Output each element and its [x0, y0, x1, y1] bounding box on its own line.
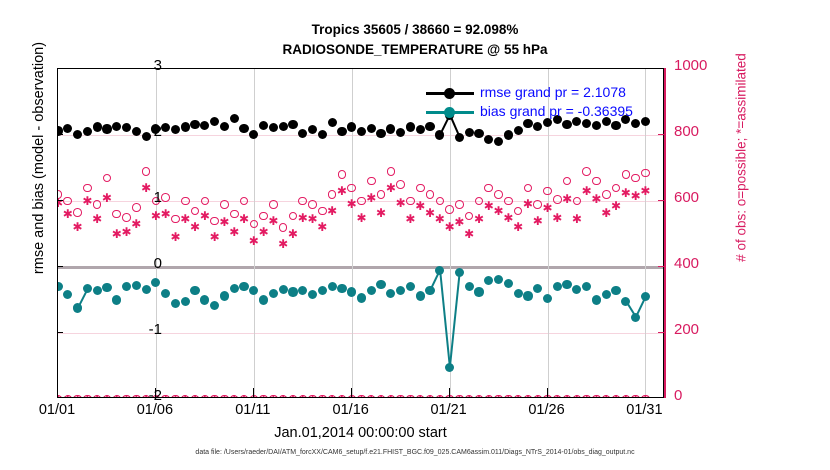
y-tick-label-right: 400	[674, 255, 734, 272]
bias-point	[611, 286, 620, 295]
rmse-point	[73, 130, 82, 139]
bias-point	[171, 299, 180, 308]
y-tick-label-right: 1000	[674, 57, 734, 74]
right-axis-spine	[664, 68, 666, 398]
rmse-point	[592, 121, 601, 130]
y-tick-label-left: -1	[116, 321, 162, 338]
obs-possible-marker	[367, 177, 376, 186]
x-tick-label: 01/11	[213, 402, 293, 418]
bias-point	[602, 290, 611, 299]
obs-assimilated-marker: ✱	[551, 212, 563, 224]
rmse-point	[367, 124, 376, 133]
rmse-point	[181, 122, 190, 131]
bias-point	[494, 275, 503, 284]
obs-assimilated-marker: ✱	[512, 221, 524, 233]
rmse-point	[269, 123, 278, 132]
y-tick-mark-right	[658, 266, 664, 267]
y-tick-mark-left	[57, 134, 63, 135]
bias-point	[357, 293, 366, 302]
obs-assimilated-marker: ✱	[62, 208, 74, 220]
legend-label: bias grand pr = -0.36395	[480, 102, 633, 121]
obs-possible-marker	[269, 200, 278, 209]
obs-possible-marker	[201, 197, 210, 206]
obs-assimilated-marker: ✱	[336, 185, 348, 197]
obs-possible-marker	[592, 177, 601, 186]
x-tick-mark	[547, 388, 548, 398]
bias-point	[406, 282, 415, 291]
bias-point	[279, 285, 288, 294]
legend: rmse grand pr = 2.1078bias grand pr = -0…	[418, 83, 658, 121]
bias-point	[504, 279, 513, 288]
x-axis-label: Jan.01,2014 00:00:00 start	[57, 425, 664, 441]
obs-assimilated-marker: ✱	[473, 213, 485, 225]
obs-possible-marker	[308, 200, 317, 209]
bias-point	[523, 291, 532, 300]
obs-assimilated-marker: ✱	[91, 213, 103, 225]
x-tick-mark	[253, 388, 254, 398]
obs-assimilated-marker: ✱	[365, 192, 377, 204]
obs-possible-marker	[563, 177, 572, 186]
obs-possible-marker	[641, 169, 650, 178]
rmse-point	[465, 128, 474, 137]
obs-assimilated-marker: ✱	[404, 213, 416, 225]
obs-assimilated-marker: ✱	[258, 226, 270, 238]
obs-assimilated-marker: ✱	[81, 195, 93, 207]
obs-assimilated-marker: ✱	[130, 218, 142, 230]
y-tick-mark-left	[57, 332, 63, 333]
rmse-point	[504, 130, 513, 139]
rmse-point	[611, 121, 620, 130]
vertical-gridline	[254, 69, 255, 397]
rmse-point	[562, 120, 571, 129]
bias-point	[367, 286, 376, 295]
obs-possible-marker	[494, 190, 503, 199]
bias-point	[416, 291, 425, 300]
obs-assimilated-marker: ✱	[72, 221, 84, 233]
obs-assimilated-marker: ✱	[326, 205, 338, 217]
bias-point	[474, 287, 483, 296]
rmse-point	[337, 127, 346, 136]
obs-assimilated-marker: ✱	[316, 221, 328, 233]
rmse-point	[249, 130, 258, 139]
obs-baseline-asterisk: ✱	[640, 394, 651, 398]
rmse-point	[406, 122, 415, 131]
rmse-point	[347, 122, 356, 131]
y-tick-mark-left	[57, 200, 63, 201]
obs-assimilated-marker: ✱	[209, 231, 221, 243]
rmse-point	[308, 125, 317, 134]
bias-point	[386, 289, 395, 298]
obs-possible-marker	[63, 197, 72, 206]
rmse-point	[514, 126, 523, 135]
rmse-point	[425, 122, 434, 131]
rmse-point	[102, 124, 111, 133]
obs-possible-marker	[387, 167, 396, 176]
bias-point	[337, 284, 346, 293]
bias-point	[230, 284, 239, 293]
y-tick-label-left: 0	[116, 255, 162, 272]
y-tick-label-right: 200	[674, 321, 734, 338]
rmse-point	[484, 135, 493, 144]
vertical-gridline	[156, 69, 157, 397]
obs-possible-marker	[426, 190, 435, 199]
obs-possible-marker	[73, 208, 82, 217]
rmse-point	[239, 124, 248, 133]
bias-point	[122, 282, 131, 291]
rmse-point	[494, 137, 503, 146]
obs-assimilated-marker: ✱	[532, 215, 544, 227]
bias-point	[220, 291, 229, 300]
obs-possible-marker	[298, 197, 307, 206]
obs-assimilated-marker: ✱	[395, 197, 407, 209]
rmse-point	[533, 122, 542, 131]
rmse-point	[93, 122, 102, 131]
obs-possible-marker	[543, 187, 552, 196]
bias-point	[562, 280, 571, 289]
bias-point	[435, 266, 444, 275]
rmse-point	[279, 122, 288, 131]
obs-assimilated-marker: ✱	[169, 231, 181, 243]
bias-point	[328, 282, 337, 291]
obs-assimilated-marker: ✱	[463, 228, 475, 240]
obs-assimilated-marker: ✱	[590, 193, 602, 205]
rmse-point	[210, 117, 219, 126]
obs-possible-marker	[622, 170, 631, 179]
obs-assimilated-marker: ✱	[101, 192, 113, 204]
y-axis-label-right: # of obs: o=possible; *=assimilated	[734, 0, 749, 323]
bias-point	[249, 286, 258, 295]
bias-point	[631, 313, 640, 322]
rmse-point	[161, 123, 170, 132]
bias-point	[641, 292, 650, 301]
rmse-point	[474, 129, 483, 138]
bias-point	[142, 285, 151, 294]
y-tick-mark-right	[658, 332, 664, 333]
bias-point	[102, 283, 111, 292]
bias-point	[308, 290, 317, 299]
obs-assimilated-marker: ✱	[385, 182, 397, 194]
x-tick-mark	[351, 388, 352, 398]
obs-assimilated-marker: ✱	[610, 200, 622, 212]
obs-assimilated-marker: ✱	[238, 213, 250, 225]
obs-assimilated-marker: ✱	[189, 221, 201, 233]
rmse-point	[328, 118, 337, 127]
rmse-point	[190, 120, 199, 129]
obs-possible-marker	[445, 205, 454, 214]
bias-point	[190, 286, 199, 295]
obs-assimilated-marker: ✱	[346, 198, 358, 210]
y-tick-label-left: 1	[116, 189, 162, 206]
obs-possible-marker	[161, 193, 170, 202]
bias-point	[376, 280, 385, 289]
obs-assimilated-marker: ✱	[571, 213, 583, 225]
y-tick-label-right: 800	[674, 123, 734, 140]
obs-possible-marker	[436, 197, 445, 206]
obs-possible-marker	[142, 167, 151, 176]
x-tick-label: 01/16	[311, 402, 391, 418]
vertical-gridline	[352, 69, 353, 397]
x-tick-label: 01/21	[409, 402, 489, 418]
obs-assimilated-marker: ✱	[561, 193, 573, 205]
bias-point	[269, 289, 278, 298]
x-tick-label: 01/06	[115, 402, 195, 418]
x-tick-mark	[449, 388, 450, 398]
obs-possible-marker	[181, 197, 190, 206]
obs-possible-marker	[220, 200, 229, 209]
x-tick-label: 01/01	[17, 402, 97, 418]
x-tick-label: 01/31	[604, 402, 684, 418]
bias-point	[543, 294, 552, 303]
bias-point	[181, 297, 190, 306]
obs-assimilated-marker: ✱	[639, 185, 651, 197]
obs-possible-marker	[484, 184, 493, 193]
rmse-point	[376, 129, 385, 138]
rmse-point	[230, 114, 239, 123]
obs-possible-marker	[631, 174, 640, 183]
data-file-footer: data file: /Users/raeder/DAI/ATM_forcXX/…	[0, 449, 830, 456]
obs-possible-marker	[240, 197, 249, 206]
obs-possible-marker	[416, 184, 425, 193]
y-tick-label-right: 600	[674, 189, 734, 206]
bias-point	[514, 289, 523, 298]
bias-point	[58, 282, 63, 291]
legend-marker-icon	[444, 107, 455, 118]
y-tick-label-left: 2	[116, 123, 162, 140]
bias-point	[572, 285, 581, 294]
obs-possible-marker	[103, 174, 112, 183]
bias-point	[465, 282, 474, 291]
legend-item[interactable]: rmse grand pr = 2.1078	[418, 83, 658, 102]
bias-point	[239, 282, 248, 291]
bias-point	[582, 282, 591, 291]
obs-assimilated-marker: ✱	[199, 210, 211, 222]
rmse-point	[298, 129, 307, 138]
obs-possible-marker	[524, 184, 533, 193]
obs-assimilated-marker: ✱	[522, 198, 534, 210]
obs-assimilated-marker: ✱	[267, 215, 279, 227]
obs-possible-marker	[582, 167, 591, 176]
obs-possible-marker	[573, 197, 582, 206]
bias-point	[318, 286, 327, 295]
bias-point	[210, 301, 219, 310]
bias-point	[347, 287, 356, 296]
obs-possible-marker	[83, 184, 92, 193]
y-tick-mark-right	[658, 200, 664, 201]
x-tick-label: 01/26	[507, 402, 587, 418]
obs-possible-marker	[602, 190, 611, 199]
bias-point	[83, 284, 92, 293]
rmse-point	[288, 120, 297, 129]
bias-point	[455, 268, 464, 277]
bias-point	[425, 286, 434, 295]
obs-assimilated-marker: ✱	[228, 226, 240, 238]
plot-title-line1: Tropics 35605 / 38660 = 92.098%	[0, 22, 830, 37]
bias-point	[298, 286, 307, 295]
bias-point	[200, 295, 209, 304]
plot-canvas: Tropics 35605 / 38660 = 92.098% RADIOSON…	[0, 0, 830, 470]
bias-point	[288, 287, 297, 296]
obs-assimilated-marker: ✱	[160, 208, 172, 220]
rmse-point	[259, 121, 268, 130]
bias-point	[132, 281, 141, 290]
obs-assimilated-marker: ✱	[287, 228, 299, 240]
rmse-point	[455, 133, 464, 142]
y-tick-label-left: 3	[116, 57, 162, 74]
bias-point	[73, 303, 82, 312]
obs-possible-marker	[347, 184, 356, 193]
bias-point	[151, 278, 160, 287]
y-tick-mark-left	[57, 266, 63, 267]
bias-point	[161, 289, 170, 298]
bias-point	[112, 295, 121, 304]
obs-possible-marker	[455, 200, 464, 209]
bias-point	[484, 276, 493, 285]
y-axis-label-left: rmse and bias (model - observation)	[31, 0, 47, 323]
rmse-point	[171, 125, 180, 134]
bias-point	[93, 286, 102, 295]
legend-item[interactable]: bias grand pr = -0.36395	[418, 102, 658, 121]
obs-possible-marker	[338, 170, 347, 179]
obs-possible-marker	[396, 180, 405, 189]
rmse-point	[386, 124, 395, 133]
bias-point	[396, 286, 405, 295]
obs-assimilated-marker: ✱	[375, 207, 387, 219]
rmse-point	[63, 124, 72, 133]
obs-assimilated-marker: ✱	[356, 212, 368, 224]
obs-possible-marker	[112, 210, 121, 219]
obs-possible-marker	[504, 197, 513, 206]
legend-marker-icon	[444, 88, 455, 99]
bias-point	[553, 282, 562, 291]
plot-title-line2: RADIOSONDE_TEMPERATURE @ 55 hPa	[0, 42, 830, 57]
y-tick-mark-right	[658, 134, 664, 135]
bias-point	[445, 363, 454, 372]
x-tick-mark	[155, 388, 156, 398]
rmse-point	[318, 130, 327, 139]
rmse-point	[435, 130, 444, 139]
bias-point	[533, 284, 542, 293]
legend-label: rmse grand pr = 2.1078	[480, 83, 626, 102]
rmse-point	[220, 122, 229, 131]
bias-point	[63, 290, 72, 299]
bias-point	[592, 295, 601, 304]
rmse-point	[416, 125, 425, 134]
bias-point	[259, 295, 268, 304]
rmse-point	[200, 121, 209, 130]
